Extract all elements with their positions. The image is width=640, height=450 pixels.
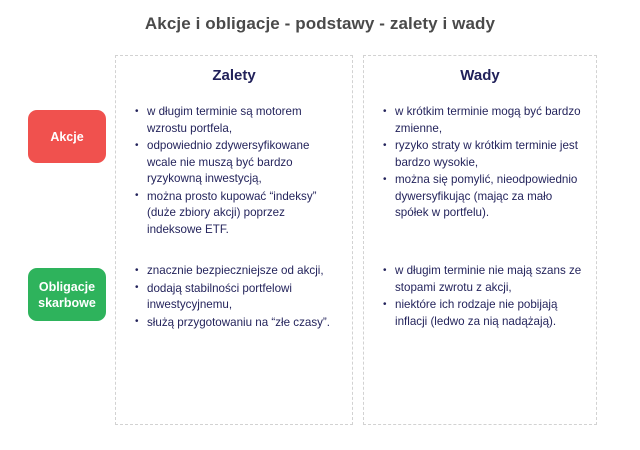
panel-wady-group-akcje: w krótkim terminie mogą być bardzo zmien… <box>382 104 586 223</box>
row-badge-akcje-label: Akcje <box>50 129 83 145</box>
panel-zalety-group-akcje: w długim terminie są motorem wzrostu por… <box>134 104 342 239</box>
list-item: znacznie bezpieczniejsze od akcji, <box>134 263 342 280</box>
panel-zalety: Zalety w długim terminie są motorem wzro… <box>115 55 353 425</box>
page-title: Akcje i obligacje - podstawy - zalety i … <box>0 14 640 34</box>
row-badge-obligacje-skarbowe-label: Obligacje skarbowe <box>38 279 96 311</box>
list-item: niektóre ich rodzaje nie pobijają inflac… <box>382 297 586 330</box>
panel-wady-group-obligacje-skarbowe: w długim terminie nie mają szans ze stop… <box>382 263 586 331</box>
list-item: w długim terminie nie mają szans ze stop… <box>382 263 586 296</box>
panel-wady-heading: Wady <box>364 67 596 84</box>
row-badge-obligacje-skarbowe: Obligacje skarbowe <box>28 268 106 321</box>
row-badge-obligacje-skarbowe-label-line-2: skarbowe <box>38 295 96 311</box>
list-item: można prosto kupować “indeksy” (duże zbi… <box>134 189 342 239</box>
panel-zalety-group-obligacje-skarbowe: znacznie bezpieczniejsze od akcji, dodaj… <box>134 263 342 332</box>
list-item: ryzyko straty w krótkim terminie jest ba… <box>382 138 586 171</box>
panel-wady: Wady w krótkim terminie mogą być bardzo … <box>363 55 597 425</box>
row-badge-obligacje-skarbowe-label-line-1: Obligacje <box>38 279 96 295</box>
panel-zalety-heading: Zalety <box>116 67 352 84</box>
list-item: dodają stabilności portfelowi inwestycyj… <box>134 281 342 314</box>
list-item: w krótkim terminie mogą być bardzo zmien… <box>382 104 586 137</box>
list-item: odpowiednio zdywersyfikowane wcale nie m… <box>134 138 342 188</box>
list-item: można się pomylić, nieodpowiednio dywers… <box>382 172 586 222</box>
list-item: służą przygotowaniu na “złe czasy”. <box>134 315 342 332</box>
row-badge-akcje: Akcje <box>28 110 106 163</box>
list-item: w długim terminie są motorem wzrostu por… <box>134 104 342 137</box>
